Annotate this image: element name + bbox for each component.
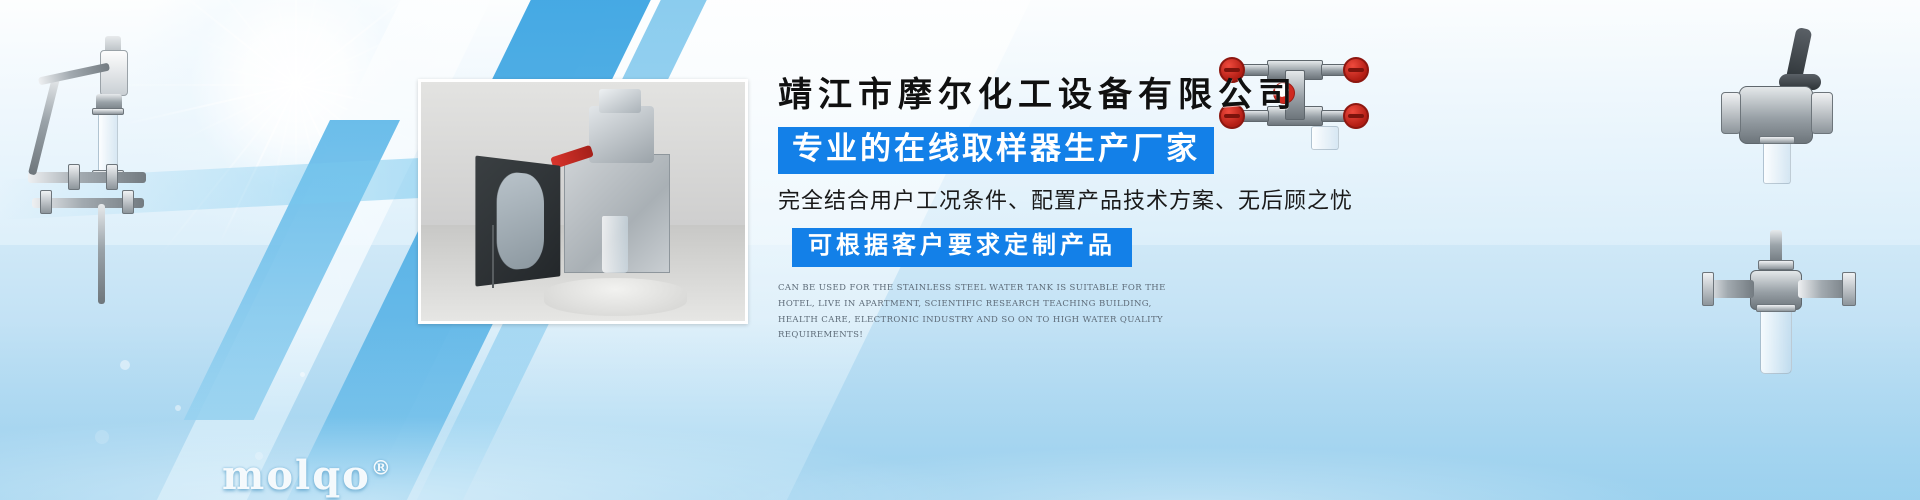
sun-ray — [295, 3, 336, 85]
sun-ray — [295, 85, 375, 248]
sun-ray — [265, 85, 297, 217]
bubble — [175, 405, 181, 411]
cta-highlight: 可根据客户要求定制产品 — [792, 228, 1132, 267]
sun-ray — [174, 84, 296, 144]
sun-ray — [295, 0, 437, 86]
sun-ray — [295, 0, 381, 86]
sub-headline: 完全结合用户工况条件、配置产品技术方案、无后顾之忧 — [778, 188, 1398, 214]
banner-copy: 靖江市摩尔化工设备有限公司 专业的在线取样器生产厂家 完全结合用户工况条件、配置… — [778, 76, 1398, 344]
sun-ray — [295, 84, 367, 142]
brand-watermark: molqo® — [222, 452, 393, 499]
bubble — [300, 372, 305, 377]
sun-ray — [295, 85, 297, 175]
sun-ray — [296, 84, 431, 86]
fineprint-english: CAN BE USED FOR THE STAINLESS STEEL WATE… — [778, 281, 1178, 344]
bubble — [120, 360, 130, 370]
brand-watermark-text: molqo — [222, 452, 371, 499]
sun-ray — [265, 0, 297, 85]
sun-ray — [295, 85, 347, 305]
sun-burst-icon — [130, 0, 460, 250]
sun-ray — [256, 3, 297, 85]
sun-ray — [225, 84, 297, 142]
sun-ray — [174, 26, 296, 86]
sun-ray — [296, 0, 500, 86]
sun-ray — [155, 0, 297, 86]
company-name: 靖江市摩尔化工设备有限公司 — [778, 76, 1398, 115]
equipment-flange-valve — [1700, 230, 1860, 410]
product-photo — [418, 79, 748, 324]
sun-ray — [296, 64, 384, 86]
sun-ray — [217, 85, 297, 248]
sun-ray — [295, 0, 347, 85]
equipment-left-manifold — [10, 22, 160, 312]
registered-mark-icon: ® — [371, 456, 393, 480]
headline-highlight: 专业的在线取样器生产厂家 — [778, 127, 1214, 174]
sun-ray — [295, 84, 381, 191]
equipment-lever-valve — [1705, 28, 1855, 198]
sun-ray — [155, 0, 297, 86]
ribbon-blue-accent — [184, 120, 400, 420]
promo-banner: 靖江市摩尔化工设备有限公司 专业的在线取样器生产厂家 完全结合用户工况条件、配置… — [0, 0, 1920, 500]
sun-ray — [295, 0, 297, 85]
bubble — [95, 430, 109, 444]
sun-ray — [208, 64, 296, 86]
sun-ray — [155, 84, 297, 261]
